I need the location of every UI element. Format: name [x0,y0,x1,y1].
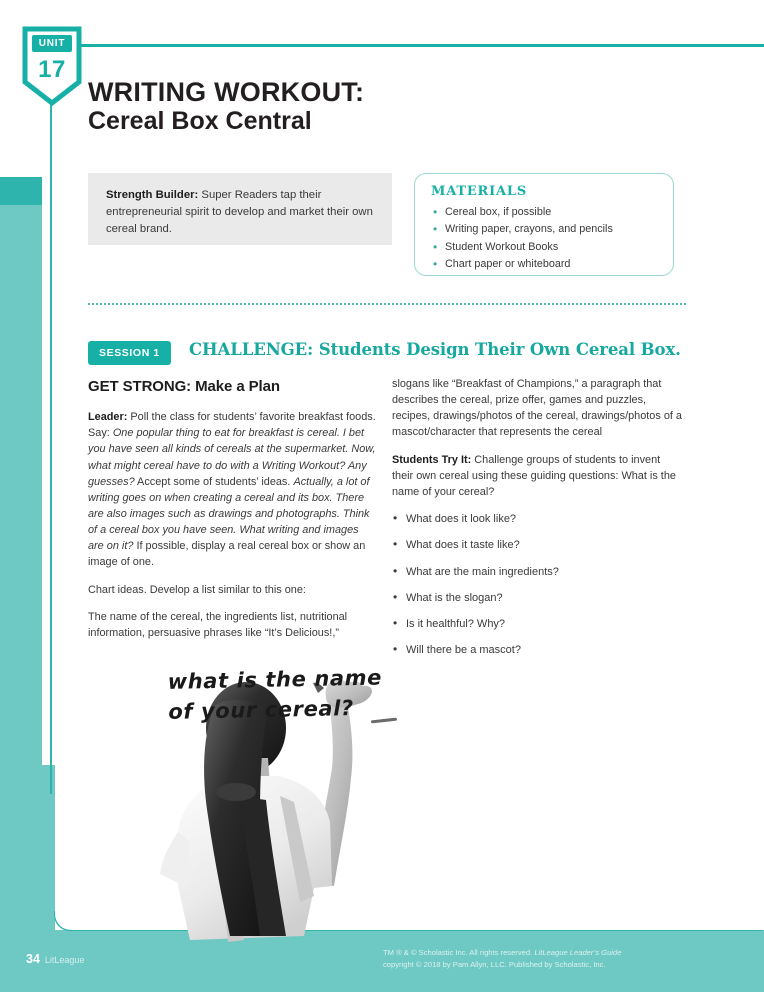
get-strong-heading: GET STRONG: Make a Plan [88,376,376,398]
copyright-line-1-a: TM ® & © Scholastic Inc. All rights rese… [383,948,534,957]
list-item: What is the slogan? [392,590,684,606]
left-accent-bar-dark [0,177,42,205]
badge-stem-line [50,104,52,794]
list-item: Is it healthful? Why? [392,616,684,632]
strength-builder-box: Strength Builder: Super Readers tap thei… [88,173,392,245]
girl-writing-photo: what is the name of your cereal? [118,636,538,992]
top-horizontal-rule [78,44,764,47]
copyright-line-1: TM ® & © Scholastic Inc. All rights rese… [383,947,713,958]
left-column: GET STRONG: Make a Plan Leader: Poll the… [88,376,376,652]
leader-paragraph: Leader: Poll the class for students’ fav… [88,409,376,570]
list-item: Student Workout Books [431,239,659,256]
unit-badge: UNIT 17 [22,26,82,106]
session-heading: CHALLENGE: Students Design Their Own Cer… [189,340,681,359]
copyright-line-1-b: LitLeague Leader’s Guide [534,948,621,957]
title-line-1: WRITING WORKOUT: [88,78,688,107]
handwriting-line-2: of your cereal? [168,692,449,728]
materials-list: Cereal box, if possible Writing paper, c… [431,204,659,274]
list-item: What are the main ingredients? [392,564,684,580]
page-number-value: 34 [26,952,40,966]
dotted-divider [88,303,686,305]
materials-title: MATERIALS [431,184,659,199]
whiteboard-handwriting: what is the name of your cereal? [167,661,448,728]
strength-builder-label: Strength Builder: [106,189,198,201]
students-try-it-label: Students Try It: [392,454,471,466]
list-item: Writing paper, crayons, and pencils [431,221,659,238]
continuation-paragraph: slogans like “Breakfast of Champions,” a… [392,376,684,441]
list-item: What does it taste like? [392,537,684,553]
left-accent-bar-light [0,205,42,765]
unit-badge-label: UNIT [22,38,82,49]
list-item: Cereal box, if possible [431,204,659,221]
copyright-text: TM ® & © Scholastic Inc. All rights rese… [383,947,713,970]
page-number-label: LitLeague [45,955,85,965]
session-badge: SESSION 1 [88,341,171,365]
page-canvas: UNIT 17 WRITING WORKOUT: Cereal Box Cent… [0,0,764,992]
session-row: SESSION 1 CHALLENGE: Students Design The… [88,341,688,365]
title-line-2: Cereal Box Central [88,107,688,135]
leader-label: Leader: [88,411,127,423]
right-column: slogans like “Breakfast of Champions,” a… [392,376,684,669]
page-title: WRITING WORKOUT: Cereal Box Central [88,78,688,135]
list-item: What does it look like? [392,511,684,527]
leader-text-2: Accept some of students’ ideas. [135,476,294,488]
page-number: 34LitLeague [26,952,84,966]
unit-badge-number: 17 [22,56,82,84]
strength-builder-paragraph: Strength Builder: Super Readers tap thei… [106,187,374,238]
materials-box: MATERIALS Cereal box, if possible Writin… [414,173,674,276]
copyright-line-2: copyright © 2018 by Pam Allyn, LLC. Publ… [383,959,713,970]
chart-ideas-paragraph: Chart ideas. Develop a list similar to t… [88,582,376,598]
list-item: Chart paper or whiteboard [431,256,659,273]
students-try-it-paragraph: Students Try It: Challenge groups of stu… [392,452,684,500]
